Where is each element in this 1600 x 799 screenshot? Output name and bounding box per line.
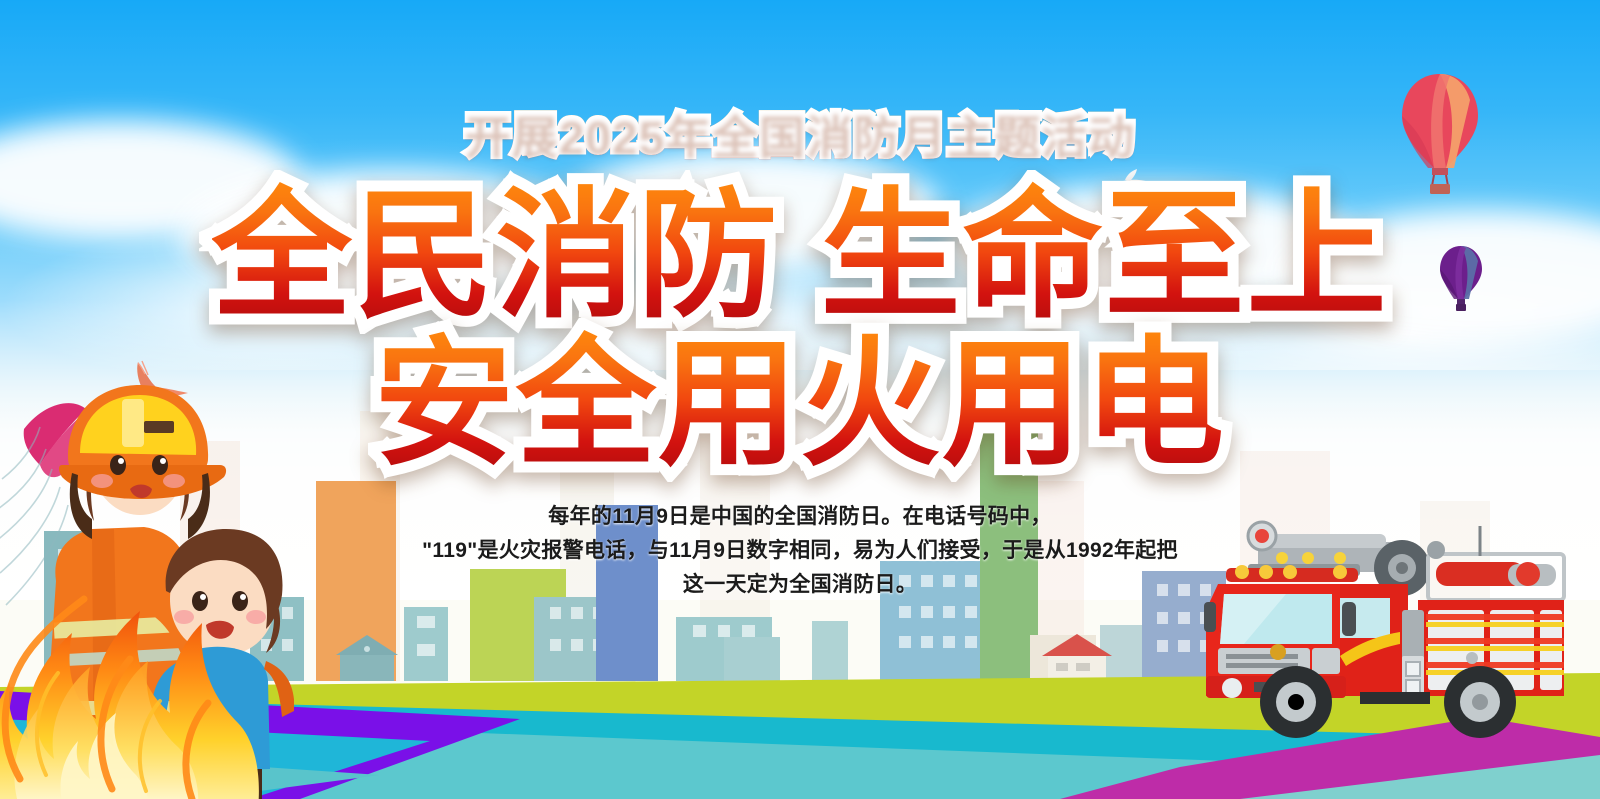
headline-line-1: 全民消防 生命至上 全民消防 生命至上 [0,186,1600,326]
headline-line-2-fill: 安全用火用电 [374,325,1226,482]
headline-line-1-fill: 全民消防 生命至上 [212,177,1389,334]
event-subtitle-text: 开展2025年全国消防月主题活动 [465,109,1135,161]
body-line-2: "119"是火灾报警电话，与11月9日数字相同，易为人们接受，于是从1992年起… [0,534,1600,568]
body-line-3: 这一天定为全国消防日。 [0,568,1600,602]
event-subtitle-banner: 开展2025年全国消防月主题活动 [0,112,1600,158]
body-paragraph: 每年的11月9日是中国的全国消防日。在电话号码中， "119"是火灾报警电话，与… [0,500,1600,602]
body-line-1: 每年的11月9日是中国的全国消防日。在电话号码中， [0,500,1600,534]
fire-safety-poster: 开展2025年全国消防月主题活动 全民消防 生命至上 全民消防 生命至上 安全用… [0,0,1600,799]
headline-line-2: 安全用火用电 安全用火用电 [0,334,1600,474]
